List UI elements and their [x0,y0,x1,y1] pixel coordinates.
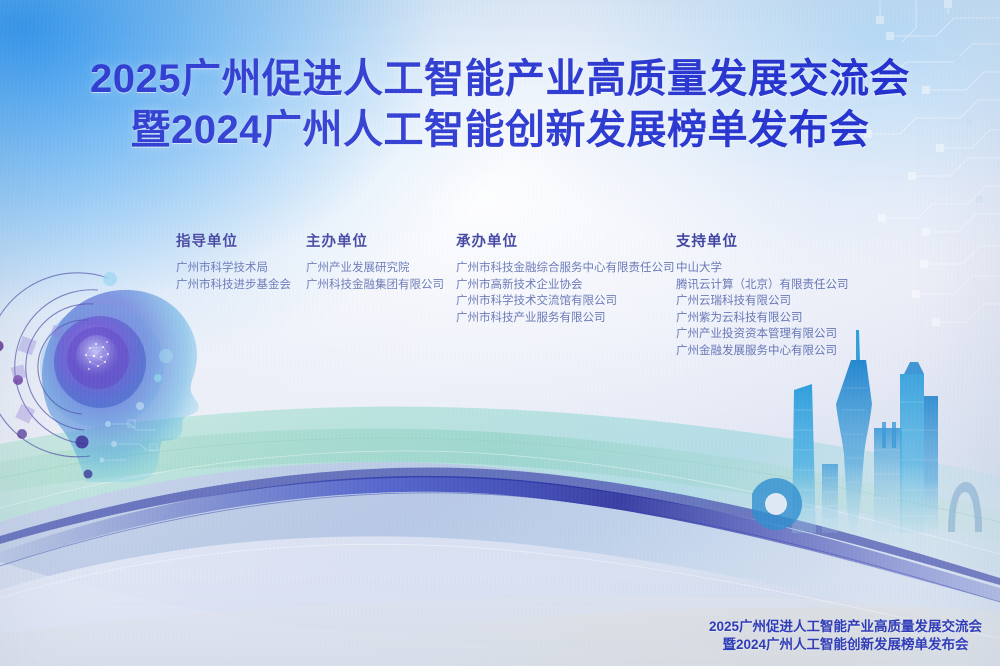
org-item: 广州产业发展研究院 [306,260,444,277]
org-item: 广州云瑞科技有限公司 [676,293,849,310]
org-column-guide-header: 指导单位 [176,230,291,251]
org-item: 广州金融发展服务中心有限公司 [676,343,849,360]
org-item: 中山大学 [676,260,849,277]
org-item: 广州科技金融集团有限公司 [306,277,444,294]
footer-title-line-2: 暨2024广州人工智能创新发展榜单发布会 [709,636,982,654]
org-item: 广州市科技产业服务有限公司 [456,310,675,327]
event-title: 2025广州促进人工智能产业高质量发展交流会 暨2024广州人工智能创新发展榜单… [0,58,1000,152]
org-column-organizer: 承办单位 广州市科技金融综合服务中心有限责任公司 广州市高新技术企业协会 广州市… [456,230,675,326]
event-title-line-2: 暨2024广州人工智能创新发展榜单发布会 [0,109,1000,152]
org-column-guide: 指导单位 广州市科学技术局 广州市科技进步基金会 [176,230,291,293]
footer-title-line-1: 2025广州促进人工智能产业高质量发展交流会 [709,618,982,636]
conference-backdrop-poster: 2025广州促进人工智能产业高质量发展交流会 暨2024广州人工智能创新发展榜单… [0,0,1000,666]
org-item: 广州市科学技术局 [176,260,291,277]
org-column-organizer-header: 承办单位 [456,230,675,251]
org-item: 广州市科技金融综合服务中心有限责任公司 [456,260,675,277]
org-item: 广州市高新技术企业协会 [456,277,675,294]
org-column-support-header: 支持单位 [676,230,849,251]
org-item: 广州市科学技术交流馆有限公司 [456,293,675,310]
org-column-host-header: 主办单位 [306,230,444,251]
org-column-support: 支持单位 中山大学 腾讯云计算（北京）有限责任公司 广州云瑞科技有限公司 广州紫… [676,230,849,359]
org-item: 腾讯云计算（北京）有限责任公司 [676,277,849,294]
organization-columns: 指导单位 广州市科学技术局 广州市科技进步基金会 主办单位 广州产业发展研究院 … [0,230,1000,370]
org-item: 广州市科技进步基金会 [176,277,291,294]
org-item: 广州紫为云科技有限公司 [676,310,849,327]
org-item: 广州产业投资资本管理有限公司 [676,326,849,343]
event-title-line-1: 2025广州促进人工智能产业高质量发展交流会 [0,58,1000,101]
org-column-host: 主办单位 广州产业发展研究院 广州科技金融集团有限公司 [306,230,444,293]
footer-event-title: 2025广州促进人工智能产业高质量发展交流会 暨2024广州人工智能创新发展榜单… [709,618,982,654]
